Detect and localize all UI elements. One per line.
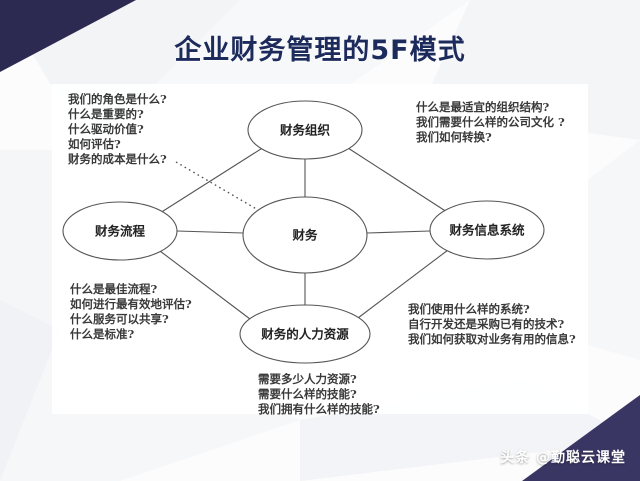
question-line: 什么是重要的? — [68, 107, 167, 122]
node-label-bottom: 财务的人力资源 — [260, 327, 349, 342]
edge-annotation-dotted — [176, 162, 265, 214]
question-line: 什么是最适宜的组织结构? — [416, 100, 565, 115]
question-line: 我们使用什么样的系统? — [408, 302, 576, 317]
questions-top-right: 什么是最适宜的组织结构? 我们需要什么样的公司文化 ? 我们如何转换? — [416, 100, 565, 145]
question-line: 我们如何转换? — [416, 130, 565, 145]
question-line: 我们如何获取对业务有用的信息? — [408, 332, 576, 347]
node-label-top: 财务组织 — [279, 123, 331, 138]
node-label-left: 财务流程 — [94, 224, 146, 239]
question-line: 需要什么样的技能? — [258, 387, 380, 402]
questions-top-left: 我们的角色是什么? 什么是重要的? 什么驱动价值? 如何评估? 财务的成本是什么… — [68, 92, 167, 167]
watermark: 头条 @勤聪云课堂 — [500, 447, 626, 467]
question-line: 如何评估? — [68, 137, 167, 152]
question-line: 什么驱动价值? — [68, 122, 167, 137]
slide-canvas: 企业财务管理的5F模式 财务组织 财务流程 — [0, 0, 640, 481]
question-line: 什么服务可以共享? — [70, 312, 192, 327]
questions-bottom-left: 什么是最佳流程? 如何进行最有效地评估? 什么服务可以共享? 什么是标准? — [70, 282, 192, 342]
questions-bottom-right: 我们使用什么样的系统? 自行开发还是采购已有的技术? 我们如何获取对业务有用的信… — [408, 302, 576, 347]
node-label-center: 财务 — [291, 228, 318, 243]
edge-left-top — [160, 147, 264, 213]
node-finance-information-system[interactable]: 财务信息系统 — [430, 201, 544, 259]
node-finance-human-resources[interactable]: 财务的人力资源 — [240, 305, 370, 363]
edge-top-right — [348, 148, 447, 212]
edge-left-center — [177, 231, 243, 233]
question-line: 我们拥有什么样的技能? — [258, 402, 380, 417]
node-finance-center[interactable]: 财务 — [243, 197, 367, 273]
edge-right-center — [367, 231, 430, 233]
node-label-right: 财务信息系统 — [448, 223, 525, 238]
question-line: 什么是最佳流程? — [70, 282, 192, 297]
question-line: 需要多少人力资源? — [258, 372, 380, 387]
question-line: 我们需要什么样的公司文化 ? — [416, 115, 565, 130]
node-finance-process[interactable]: 财务流程 — [63, 202, 177, 260]
node-finance-organization[interactable]: 财务组织 — [248, 101, 362, 159]
question-line: 自行开发还是采购已有的技术? — [408, 317, 576, 332]
question-line: 什么是标准? — [70, 327, 192, 342]
question-line: 财务的成本是什么? — [68, 152, 167, 167]
questions-bottom-center: 需要多少人力资源? 需要什么样的技能? 我们拥有什么样的技能? — [258, 372, 380, 417]
question-line: 如何进行最有效地评估? — [70, 297, 192, 312]
question-line: 我们的角色是什么? — [68, 92, 167, 107]
